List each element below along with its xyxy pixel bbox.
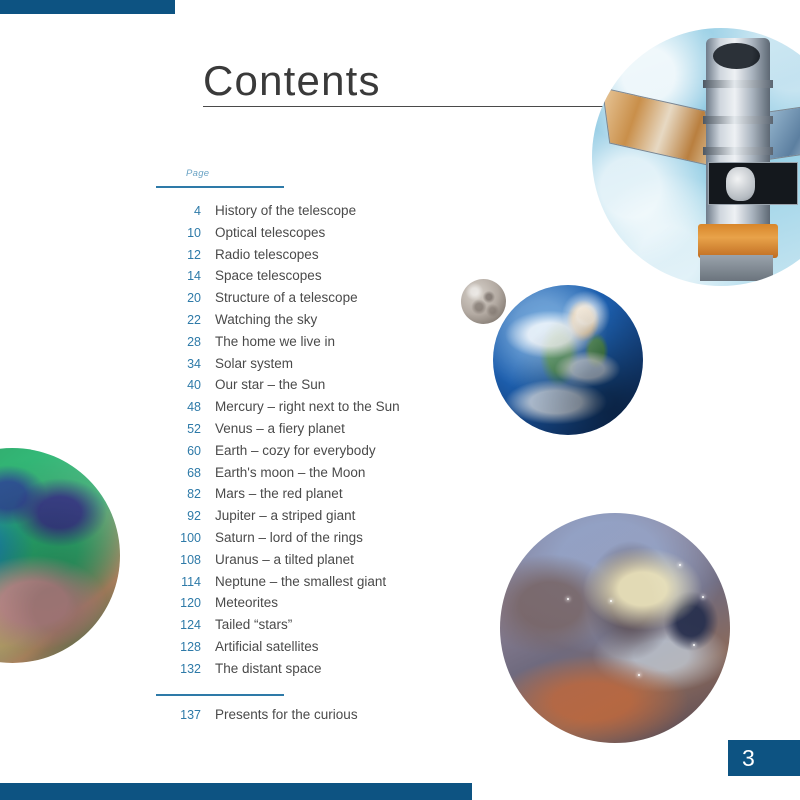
earth-shading xyxy=(493,285,643,435)
toc-entry-page: 68 xyxy=(156,466,201,480)
toc-entry-title: Structure of a telescope xyxy=(215,290,358,305)
toc-entry-title: Optical telescopes xyxy=(215,225,325,240)
toc-entry[interactable]: 100 Saturn – lord of the rings xyxy=(156,530,486,552)
toc-entry-title: Mercury – right next to the Sun xyxy=(215,399,400,414)
moon-image xyxy=(461,279,506,324)
telescope-base xyxy=(698,224,778,258)
toc-entry[interactable]: 52 Venus – a fiery planet xyxy=(156,421,486,443)
star-point xyxy=(567,598,569,600)
toc-entry-title: Watching the sky xyxy=(215,312,317,327)
toc-entry-title: Presents for the curious xyxy=(215,707,358,722)
telescope-ring xyxy=(703,147,773,155)
toc-entry[interactable]: 4 History of the telescope xyxy=(156,203,486,225)
toc-entry-page: 108 xyxy=(156,553,201,567)
table-of-contents: Page 4 History of the telescope 10 Optic… xyxy=(156,168,486,728)
toc-entry-title: Venus – a fiery planet xyxy=(215,421,345,436)
toc-entry[interactable]: 48 Mercury – right next to the Sun xyxy=(156,399,486,421)
astronaut-figure xyxy=(726,167,754,201)
toc-entry-page: 52 xyxy=(156,422,201,436)
toc-entry-title: Mars – the red planet xyxy=(215,486,343,501)
toc-entry-page: 22 xyxy=(156,313,201,327)
toc-top-divider xyxy=(156,186,284,188)
toc-entry-page: 4 xyxy=(156,204,201,218)
toc-entry[interactable]: 28 The home we live in xyxy=(156,334,486,356)
toc-entry-page: 12 xyxy=(156,248,201,262)
toc-entry[interactable]: 128 Artificial satellites xyxy=(156,639,486,661)
page-number-value: 3 xyxy=(742,745,755,772)
toc-entry-title: Neptune – the smallest giant xyxy=(215,574,386,589)
toc-appendix-list: 137 Presents for the curious xyxy=(156,707,486,729)
toc-entry-title: Earth – cozy for everybody xyxy=(215,443,376,458)
toc-entry-title: History of the telescope xyxy=(215,203,356,218)
star-point xyxy=(679,564,681,566)
toc-entry-title: Artificial satellites xyxy=(215,639,319,654)
toc-entry-page: 128 xyxy=(156,640,201,654)
toc-entry[interactable]: 20 Structure of a telescope xyxy=(156,290,486,312)
toc-entry-page: 28 xyxy=(156,335,201,349)
star-point xyxy=(702,596,704,598)
toc-entry-page: 92 xyxy=(156,509,201,523)
toc-entry-page: 82 xyxy=(156,487,201,501)
toc-entry-title: Jupiter – a striped giant xyxy=(215,508,355,523)
nebula-image xyxy=(500,513,730,743)
toc-entry-page: 34 xyxy=(156,357,201,371)
venus-shading xyxy=(0,448,120,663)
toc-entry-list: 4 History of the telescope 10 Optical te… xyxy=(156,203,486,683)
telescope-aperture xyxy=(713,43,759,69)
toc-entry-page: 60 xyxy=(156,444,201,458)
toc-entry[interactable]: 82 Mars – the red planet xyxy=(156,486,486,508)
toc-entry[interactable]: 22 Watching the sky xyxy=(156,312,486,334)
toc-entry[interactable]: 124 Tailed “stars” xyxy=(156,617,486,639)
title-divider xyxy=(203,106,613,107)
toc-entry[interactable]: 108 Uranus – a tilted planet xyxy=(156,552,486,574)
toc-entry-page: 14 xyxy=(156,269,201,283)
toc-entry-title: Our star – the Sun xyxy=(215,377,325,392)
toc-entry[interactable]: 14 Space telescopes xyxy=(156,268,486,290)
hubble-telescope-image xyxy=(592,28,800,286)
page-number-badge: 3 xyxy=(728,740,800,776)
toc-entry-page: 100 xyxy=(156,531,201,545)
toc-entry-title: Saturn – lord of the rings xyxy=(215,530,363,545)
earth-image xyxy=(493,285,643,435)
toc-entry-title: Meteorites xyxy=(215,595,278,610)
toc-entry-title: Uranus – a tilted planet xyxy=(215,552,354,567)
toc-entry[interactable]: 92 Jupiter – a striped giant xyxy=(156,508,486,530)
star-point xyxy=(638,674,640,676)
star-point xyxy=(693,644,695,646)
toc-entry[interactable]: 114 Neptune – the smallest giant xyxy=(156,574,486,596)
telescope-ring xyxy=(703,116,773,124)
toc-entry-title: Space telescopes xyxy=(215,268,322,283)
toc-entry[interactable]: 12 Radio telescopes xyxy=(156,247,486,269)
toc-entry-title: Solar system xyxy=(215,356,293,371)
toc-entry-title: The home we live in xyxy=(215,334,335,349)
toc-entry-page: 114 xyxy=(156,575,201,589)
toc-entry-page: 48 xyxy=(156,400,201,414)
toc-entry-title: The distant space xyxy=(215,661,322,676)
toc-entry[interactable]: 40 Our star – the Sun xyxy=(156,377,486,399)
telescope-mount xyxy=(700,255,772,281)
toc-entry[interactable]: 60 Earth – cozy for everybody xyxy=(156,443,486,465)
toc-entry[interactable]: 34 Solar system xyxy=(156,356,486,378)
toc-entry[interactable]: 68 Earth's moon – the Moon xyxy=(156,465,486,487)
star-point xyxy=(610,600,612,602)
toc-entry[interactable]: 132 The distant space xyxy=(156,661,486,683)
telescope-ring xyxy=(703,80,773,88)
toc-entry[interactable]: 120 Meteorites xyxy=(156,595,486,617)
toc-entry-page: 132 xyxy=(156,662,201,676)
toc-bottom-divider xyxy=(156,694,284,696)
venus-radar-image xyxy=(0,448,120,663)
page-column-header: Page xyxy=(156,168,486,179)
page-title: Contents xyxy=(203,57,381,105)
toc-entry-title: Earth's moon – the Moon xyxy=(215,465,365,480)
solar-panel-left xyxy=(602,88,714,167)
toc-entry-page: 124 xyxy=(156,618,201,632)
bottom-accent-bar xyxy=(0,783,472,800)
toc-entry-page: 40 xyxy=(156,378,201,392)
top-accent-bar xyxy=(0,0,175,14)
toc-entry-title: Radio telescopes xyxy=(215,247,319,262)
toc-entry-title: Tailed “stars” xyxy=(215,617,292,632)
toc-entry-page: 120 xyxy=(156,596,201,610)
toc-entry-page: 10 xyxy=(156,226,201,240)
toc-entry[interactable]: 10 Optical telescopes xyxy=(156,225,486,247)
toc-entry-page: 137 xyxy=(156,708,201,722)
toc-entry-page: 20 xyxy=(156,291,201,305)
toc-entry[interactable]: 137 Presents for the curious xyxy=(156,707,486,729)
